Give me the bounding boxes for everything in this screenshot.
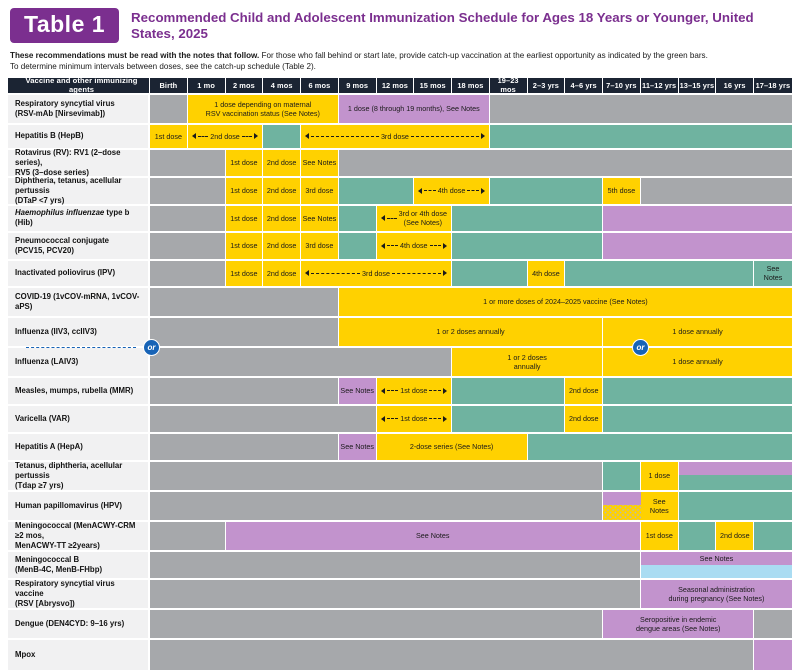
cell-label: 5th dose	[608, 186, 636, 195]
table-number-badge: Table 1	[10, 8, 119, 43]
vaccine-label-influenza-laiv3: Influenza (LAIV3)	[8, 348, 150, 376]
schedule-cell[interactable]	[150, 552, 641, 578]
schedule-cell[interactable]	[452, 378, 565, 404]
cell-label: 1st dose	[230, 158, 257, 167]
arrow-right-icon	[481, 188, 485, 194]
schedule-cell[interactable]: See Notes	[301, 206, 339, 231]
table-row: Meningococcal (MenACWY-CRM ≥2 mos,MenACW…	[8, 522, 792, 550]
cell-label: 1 dose	[649, 471, 671, 480]
cell-label: See Notes	[303, 214, 337, 223]
dose-arrow: 4th dose	[378, 233, 451, 259]
cell-label: 2nd dose	[720, 531, 750, 540]
table-row: Diphtheria, tetanus, acellular pertussis…	[8, 178, 792, 204]
schedule-cell[interactable]: 2nd dose	[263, 178, 301, 204]
cell-half-catchup[interactable]	[679, 475, 792, 490]
arrow-line	[424, 190, 435, 191]
schedule-cell[interactable]	[603, 462, 641, 490]
arrow-line	[429, 418, 441, 419]
schedule-cell[interactable]: 1 dose annually	[603, 348, 792, 376]
cell-label: 4th dose	[400, 241, 428, 250]
arrow-line	[429, 390, 441, 391]
schedule-cell[interactable]: SeeNotes	[754, 261, 792, 286]
vaccine-label-rsv-mab: Respiratory syncytial virus(RSV-mAb [Nir…	[8, 95, 150, 123]
note-line-2: To determine minimum intervals between d…	[10, 61, 790, 72]
cell-label: 3rd dose	[381, 132, 409, 141]
table-row: Hepatitis A (HepA)See Notes2-dose series…	[8, 434, 792, 460]
page-title: Recommended Child and Adolescent Immuniz…	[131, 10, 790, 41]
schedule-cell[interactable]	[150, 318, 339, 346]
cell-label: 2nd dose	[267, 158, 297, 167]
cell-half-special[interactable]	[603, 492, 641, 505]
row-cells	[150, 640, 792, 670]
schedule-cell[interactable]	[603, 406, 792, 432]
cell-half-special[interactable]: See Notes	[641, 552, 792, 566]
column-header-4-mos: 4 mos	[263, 78, 301, 93]
row-cells: 1 or 2 doses annually1 dose annually	[150, 318, 792, 346]
column-header-2-3-yrs: 2–3 yrs	[528, 78, 566, 93]
table-row: Rotavirus (RV): RV1 (2–dose series),RV5 …	[8, 150, 792, 176]
cell-label: SeeNotes	[764, 264, 783, 282]
row-cells: 1st dose2nd doseSee Notes3rd or 4th dose…	[150, 206, 792, 231]
vaccine-label-rotavirus: Rotavirus (RV): RV1 (2–dose series),RV5 …	[8, 150, 150, 176]
dose-arrow: 1st dose	[378, 406, 451, 432]
schedule-cell[interactable]	[679, 492, 792, 520]
cell-label: 1st dose	[230, 186, 257, 195]
cell-label: 2nd dose	[569, 386, 599, 395]
schedule-cell[interactable]: 5th dose	[603, 178, 641, 204]
column-header-6-mos: 6 mos	[301, 78, 339, 93]
cell-half-special[interactable]	[679, 462, 792, 475]
schedule-cell[interactable]: 1 dose (8 through 19 months), See Notes	[339, 95, 490, 123]
table-row: Tetanus, diphtheria, acellular pertussis…	[8, 462, 792, 490]
arrow-line	[311, 273, 360, 274]
cell-label: 3rd or 4th dose(See Notes)	[399, 209, 447, 227]
schedule-cell[interactable]	[150, 378, 339, 404]
cell-label: 1 dose depending on maternalRSV vaccinat…	[206, 100, 320, 118]
schedule-cell[interactable]: 2nd dose	[716, 522, 754, 550]
arrow-right-icon	[443, 243, 447, 249]
dose-arrow: 4th dose	[415, 178, 488, 204]
arrow-right-icon	[443, 270, 447, 276]
vaccine-label-menb: Meningococcal B(MenB-4C, MenB-FHbp)	[8, 552, 150, 578]
schedule-cell[interactable]: Seropositive in endemicdengue areas (See…	[603, 610, 754, 638]
cell-label: 3rd dose	[305, 241, 333, 250]
schedule-cell[interactable]: 2nd dose	[263, 261, 301, 286]
table-row: COVID-19 (1vCOV-mRNA, 1vCOV-aPS)1 or mor…	[8, 288, 792, 316]
cell-label: 2nd dose	[267, 186, 297, 195]
cell-label: 1st dose	[400, 414, 427, 423]
schedule-cell[interactable]	[339, 150, 792, 176]
schedule-cell[interactable]: See Notes	[226, 522, 641, 550]
arrow-right-icon	[481, 133, 485, 139]
schedule-cell[interactable]	[150, 233, 226, 259]
schedule-cell[interactable]	[754, 522, 792, 550]
or-divider-line	[160, 347, 622, 348]
schedule-cell[interactable]	[339, 178, 415, 204]
schedule-cell[interactable]	[150, 406, 377, 432]
arrow-line	[387, 390, 399, 391]
cell-label: 1 dose (8 through 19 months), See Notes	[348, 104, 480, 113]
row-cells: See Notes	[150, 552, 792, 578]
cell-label: 2nd dose	[267, 269, 297, 278]
note-line-1: These recommendations must be read with …	[10, 50, 790, 61]
arrow-left-icon	[381, 416, 385, 422]
column-header-16-yrs: 16 yrs	[716, 78, 754, 93]
note-bold: These recommendations must be read with …	[10, 51, 259, 60]
column-header-13-15-yrs: 13–15 yrs	[679, 78, 717, 93]
schedule-cell[interactable]: 2nd dose	[188, 125, 264, 148]
schedule-cell[interactable]: See Notes	[339, 434, 377, 460]
schedule-cell[interactable]: 3rd dose	[301, 233, 339, 259]
schedule-cell[interactable]	[754, 610, 792, 638]
schedule-cell[interactable]: 1st dose	[226, 178, 264, 204]
cell-label: See Notes	[340, 386, 374, 395]
schedule-cell[interactable]	[150, 95, 188, 123]
schedule-cell[interactable]	[150, 640, 754, 670]
schedule-cell[interactable]: See Notes	[301, 150, 339, 176]
schedule-cell[interactable]	[150, 522, 226, 550]
vaccine-label-rsv-vaccine: Respiratory syncytial virus vaccine(RSV …	[8, 580, 150, 608]
page-header: Table 1 Recommended Child and Adolescent…	[0, 0, 800, 47]
or-badge: or	[143, 339, 160, 356]
cell-label: 2nd dose	[210, 132, 240, 141]
vaccine-label-dengue: Dengue (DEN4CYD: 9–16 yrs)	[8, 610, 150, 638]
row-cells: 1 dose depending on maternalRSV vaccinat…	[150, 95, 792, 123]
schedule-cell[interactable]: 1st dose	[226, 206, 264, 231]
cell-label: 4th dose	[438, 186, 466, 195]
cell-label: 3rd dose	[305, 186, 333, 195]
column-header-17-18-yrs: 17–18 yrs	[754, 78, 792, 93]
schedule-cell[interactable]: 1 or 2 dosesannually	[452, 348, 603, 376]
schedule-cell[interactable]: 3rd dose	[301, 125, 490, 148]
table-row: Meningococcal B(MenB-4C, MenB-FHbp)See N…	[8, 552, 792, 578]
schedule-cell[interactable]	[754, 640, 792, 670]
vaccine-label-hpv: Human papillomavirus (HPV)	[8, 492, 150, 520]
note-rest: For those who fall behind or start late,…	[259, 51, 708, 60]
schedule-cell[interactable]	[603, 233, 792, 259]
immunization-schedule-table: Vaccine and other immunizing agentsBirth…	[8, 78, 792, 670]
arrow-line	[430, 245, 441, 246]
schedule-cell[interactable]	[263, 125, 301, 148]
row-cells: 1 or more doses of 2024–2025 vaccine (Se…	[150, 288, 792, 316]
schedule-cell[interactable]: 1 dose	[641, 462, 679, 490]
column-header-11-12-yrs: 11–12 yrs	[641, 78, 679, 93]
schedule-cell[interactable]: 2nd dose	[263, 233, 301, 259]
schedule-cell[interactable]: 2-dose series (See Notes)	[377, 434, 528, 460]
cell-label: 2-dose series (See Notes)	[410, 442, 494, 451]
cell-label: 1st dose	[400, 386, 427, 395]
schedule-cell[interactable]: 1st dose	[226, 233, 264, 259]
row-cells: 1st dose2nd dose3rd dose	[150, 125, 792, 148]
table-header-row: Vaccine and other immunizing agentsBirth…	[8, 78, 792, 93]
schedule-cell[interactable]: See Notes	[641, 552, 792, 578]
schedule-cell[interactable]	[150, 150, 226, 176]
table-row: Pneumococcal conjugate(PCV15, PCV20)1st …	[8, 233, 792, 259]
arrow-right-icon	[254, 133, 258, 139]
cell-label: 1 or more doses of 2024–2025 vaccine (Se…	[483, 297, 648, 306]
schedule-cell[interactable]: 1st dose	[226, 150, 264, 176]
schedule-cell[interactable]: See Notes	[339, 378, 377, 404]
schedule-cell[interactable]	[490, 178, 603, 204]
schedule-cell[interactable]: 1st dose	[226, 261, 264, 286]
row-cells: 1st dose2nd dose	[150, 406, 792, 432]
schedule-cell[interactable]	[452, 206, 603, 231]
schedule-cell[interactable]	[150, 261, 226, 286]
schedule-cell[interactable]	[641, 178, 792, 204]
page-root: Table 1 Recommended Child and Adolescent…	[0, 0, 800, 579]
table-row: Varicella (VAR)1st dose2nd dose	[8, 406, 792, 432]
or-badge: or	[632, 339, 649, 356]
table-row: Inactivated poliovirus (IPV)1st dose2nd …	[8, 261, 792, 286]
row-cells: 1 or 2 dosesannually1 dose annually	[150, 348, 792, 376]
schedule-cell[interactable]: 1st dose	[641, 522, 679, 550]
vaccine-label-tdap: Tetanus, diphtheria, acellular pertussis…	[8, 462, 150, 490]
table-row: Mpox	[8, 640, 792, 670]
schedule-cell[interactable]: 3rd or 4th dose(See Notes)	[377, 206, 453, 231]
schedule-cell[interactable]: SeeNotes	[641, 492, 679, 520]
cell-label: 1st dose	[646, 531, 673, 540]
arrow-line	[387, 218, 397, 219]
row-cells: 1st dose2nd dose3rd dose4th dose5th dose	[150, 178, 792, 204]
column-header-12-mos: 12 mos	[377, 78, 415, 93]
schedule-cell[interactable]: 1 dose annually	[603, 318, 792, 346]
row-cells: 1st dose2nd doseSee Notes	[150, 150, 792, 176]
cell-label: 1st dose	[155, 132, 182, 141]
arrow-line	[387, 418, 399, 419]
schedule-cell[interactable]: Seasonal administrationduring pregnancy …	[641, 580, 792, 608]
arrow-line	[242, 136, 252, 137]
column-header-15-mos: 15 mos	[414, 78, 452, 93]
row-cells: 1st dose2nd dose3rd dose4th doseSeeNotes	[150, 261, 792, 286]
or-divider-line	[26, 347, 136, 348]
schedule-cell[interactable]: 2nd dose	[263, 150, 301, 176]
cell-label: 2nd dose	[267, 214, 297, 223]
schedule-cell[interactable]	[603, 206, 792, 231]
column-header-7-10-yrs: 7–10 yrs	[603, 78, 641, 93]
schedule-cell[interactable]	[150, 434, 339, 460]
cell-label: 1st dose	[230, 269, 257, 278]
table-row: Haemophilus influenzae type b (Hib)1st d…	[8, 206, 792, 231]
column-header-9-mos: 9 mos	[339, 78, 377, 93]
dose-arrow: 3rd dose	[302, 261, 450, 286]
row-cells: See Notes1st dose2nd dose	[150, 522, 792, 550]
arrow-left-icon	[305, 133, 309, 139]
schedule-cell[interactable]: 3rd dose	[301, 178, 339, 204]
arrow-line	[387, 245, 398, 246]
row-cells: Seropositive in endemicdengue areas (See…	[150, 610, 792, 638]
column-header-2-mos: 2 mos	[226, 78, 264, 93]
vaccine-label-dtap: Diphtheria, tetanus, acellular pertussis…	[8, 178, 150, 204]
row-cells: See Notes2-dose series (See Notes)	[150, 434, 792, 460]
schedule-cell[interactable]: 1 or 2 doses annually	[339, 318, 603, 346]
schedule-cell[interactable]: 1st dose	[377, 378, 453, 404]
cell-label: 1 dose annually	[672, 357, 722, 366]
schedule-cell[interactable]	[565, 261, 754, 286]
column-header-1-mo: 1 mo	[188, 78, 226, 93]
table-row: Influenza (IIV3, ccIIV3)1 or 2 doses ann…	[8, 318, 792, 346]
cell-label: 2nd dose	[267, 241, 297, 250]
vaccine-label-var: Varicella (VAR)	[8, 406, 150, 432]
schedule-cell[interactable]: 1 or more doses of 2024–2025 vaccine (Se…	[339, 288, 792, 316]
vaccine-label-hepa: Hepatitis A (HepA)	[8, 434, 150, 460]
row-cells: See Notes1st dose2nd dose	[150, 378, 792, 404]
arrow-line	[311, 136, 379, 137]
cell-label: See Notes	[303, 158, 337, 167]
cell-label: 1st dose	[230, 214, 257, 223]
arrow-left-icon	[381, 388, 385, 394]
table-row: Hepatitis B (HepB)1st dose2nd dose3rd do…	[8, 125, 792, 148]
dose-arrow: 3rd or 4th dose(See Notes)	[378, 206, 451, 231]
column-header-4-6-yrs: 4–6 yrs	[565, 78, 603, 93]
schedule-cell[interactable]	[679, 462, 792, 490]
vaccine-label-menacwy: Meningococcal (MenACWY-CRM ≥2 mos,MenACW…	[8, 522, 150, 550]
table-row: Respiratory syncytial virus vaccine(RSV …	[8, 580, 792, 608]
or-divider-line	[640, 347, 788, 348]
schedule-cell[interactable]	[150, 206, 226, 231]
schedule-cell[interactable]	[490, 95, 792, 123]
cell-label: Seasonal administrationduring pregnancy …	[669, 585, 765, 603]
column-header-18-mos: 18 mos	[452, 78, 490, 93]
cell-half-shared-decision[interactable]	[641, 565, 792, 577]
schedule-cell[interactable]	[150, 462, 603, 490]
dose-arrow: 1st dose	[378, 378, 451, 404]
schedule-cell[interactable]	[150, 610, 603, 638]
schedule-cell[interactable]: 4th dose	[414, 178, 490, 204]
arrow-left-icon	[305, 270, 309, 276]
schedule-cell[interactable]: 2nd dose	[565, 406, 603, 432]
row-cells: SeeNotes	[150, 492, 792, 520]
schedule-cell[interactable]	[528, 434, 792, 460]
vaccine-label-hib: Haemophilus influenzae type b (Hib)	[8, 206, 150, 231]
schedule-cell[interactable]	[150, 178, 226, 204]
cell-label: 1 or 2 doses annually	[436, 327, 504, 336]
cell-label: 1 or 2 dosesannually	[507, 353, 547, 371]
schedule-cell[interactable]	[452, 406, 565, 432]
schedule-cell[interactable]	[679, 522, 717, 550]
arrow-line	[467, 190, 478, 191]
cell-label: 1st dose	[230, 241, 257, 250]
row-cells: 1st dose2nd dose3rd dose4th dose	[150, 233, 792, 259]
column-header-vaccine-and-other-immunizing-agents: Vaccine and other immunizing agents	[8, 78, 150, 93]
vaccine-label-ipv: Inactivated poliovirus (IPV)	[8, 261, 150, 286]
dose-arrow: 2nd dose	[189, 125, 262, 148]
schedule-cell[interactable]	[339, 233, 377, 259]
table-row: Measles, mumps, rubella (MMR)See Notes1s…	[8, 378, 792, 404]
schedule-cell[interactable]	[150, 288, 339, 316]
schedule-cell[interactable]	[150, 348, 452, 376]
arrow-left-icon	[381, 243, 385, 249]
cell-label: 1 dose annually	[672, 327, 722, 336]
column-header-birth: Birth	[150, 78, 188, 93]
vaccine-label-covid19: COVID-19 (1vCOV-mRNA, 1vCOV-aPS)	[8, 288, 150, 316]
schedule-cell[interactable]	[452, 261, 528, 286]
schedule-cell[interactable]: 2nd dose	[565, 378, 603, 404]
intro-notes: These recommendations must be read with …	[0, 47, 800, 78]
schedule-cell[interactable]	[603, 378, 792, 404]
cell-label: SeeNotes	[650, 497, 669, 515]
dose-arrow: 3rd dose	[302, 125, 488, 148]
schedule-cell[interactable]	[603, 492, 641, 520]
schedule-cell[interactable]	[150, 492, 603, 520]
cell-half-hatched[interactable]	[603, 505, 641, 520]
schedule-cell[interactable]	[452, 233, 603, 259]
arrow-left-icon	[381, 215, 385, 221]
column-header-19-23-mos: 19–23 mos	[490, 78, 528, 93]
cell-label: See Notes	[416, 531, 450, 540]
schedule-cell[interactable]: 1st dose	[377, 406, 453, 432]
schedule-cell[interactable]	[150, 580, 641, 608]
schedule-cell[interactable]: 4th dose	[377, 233, 453, 259]
arrow-left-icon	[418, 188, 422, 194]
cell-label: 2nd dose	[569, 414, 599, 423]
schedule-cell[interactable]: 1 dose depending on maternalRSV vaccinat…	[188, 95, 339, 123]
table-row: Dengue (DEN4CYD: 9–16 yrs)Seropositive i…	[8, 610, 792, 638]
schedule-cell[interactable]: 3rd dose	[301, 261, 452, 286]
arrow-line	[392, 273, 441, 274]
schedule-cell[interactable]: 2nd dose	[263, 206, 301, 231]
arrow-line	[198, 136, 208, 137]
arrow-right-icon	[443, 416, 447, 422]
schedule-cell[interactable]: 1st dose	[150, 125, 188, 148]
arrow-right-icon	[443, 388, 447, 394]
cell-label: 3rd dose	[362, 269, 390, 278]
row-cells: 1 dose	[150, 462, 792, 490]
cell-label: Seropositive in endemicdengue areas (See…	[636, 615, 720, 633]
schedule-cell[interactable]	[490, 125, 792, 148]
vaccine-label-pcv: Pneumococcal conjugate(PCV15, PCV20)	[8, 233, 150, 259]
vaccine-label-mmr: Measles, mumps, rubella (MMR)	[8, 378, 150, 404]
schedule-cell[interactable]	[339, 206, 377, 231]
schedule-cell[interactable]: 4th dose	[528, 261, 566, 286]
table-row: Influenza (LAIV3)1 or 2 dosesannually1 d…	[8, 348, 792, 376]
cell-label: See Notes	[340, 442, 374, 451]
arrow-left-icon	[192, 133, 196, 139]
vaccine-label-mpox: Mpox	[8, 640, 150, 670]
row-cells: Seasonal administrationduring pregnancy …	[150, 580, 792, 608]
arrow-line	[411, 136, 479, 137]
table-row: Respiratory syncytial virus(RSV-mAb [Nir…	[8, 95, 792, 123]
cell-label: 4th dose	[532, 269, 560, 278]
vaccine-label-influenza-iiv3: Influenza (IIV3, ccIIV3)	[8, 318, 150, 346]
table-row: Human papillomavirus (HPV)SeeNotes	[8, 492, 792, 520]
vaccine-label-hepb: Hepatitis B (HepB)	[8, 125, 150, 148]
